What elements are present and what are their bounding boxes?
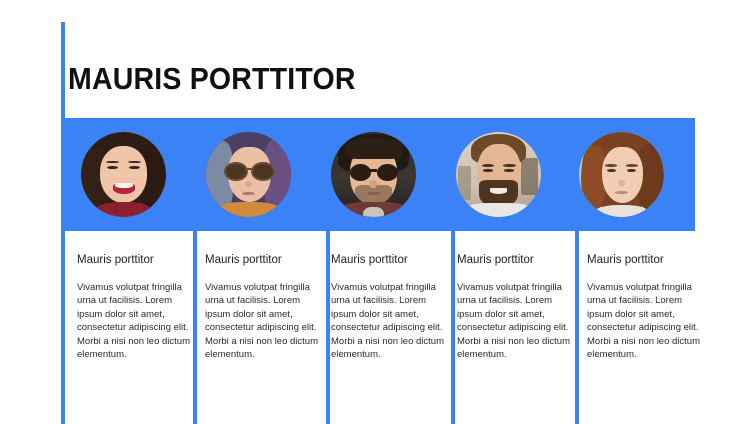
- column-divider-4: [451, 231, 455, 424]
- avatar-1[interactable]: [81, 132, 166, 217]
- avatar-4-image: [456, 132, 541, 217]
- column-2: Mauris porttitor Vivamus volutpat fringi…: [205, 252, 325, 361]
- avatar-4[interactable]: [456, 132, 541, 217]
- column-1-body: Vivamus volutpat fringilla urna ut facil…: [77, 281, 197, 361]
- avatar-band: [61, 118, 695, 231]
- column-2-heading: Mauris porttitor: [205, 252, 325, 268]
- column-5-heading: Mauris porttitor: [587, 252, 707, 268]
- avatar-2[interactable]: [206, 132, 291, 217]
- column-4-heading: Mauris porttitor: [457, 252, 577, 268]
- column-4: Mauris porttitor Vivamus volutpat fringi…: [457, 252, 577, 361]
- avatar-5-image: [579, 132, 664, 217]
- column-3: Mauris porttitor Vivamus volutpat fringi…: [331, 252, 451, 361]
- avatar-3-image: [331, 132, 416, 217]
- column-5-body: Vivamus volutpat fringilla urna ut facil…: [587, 281, 707, 361]
- column-divider-3: [326, 231, 330, 424]
- page-title: MAURIS PORTTITOR: [68, 60, 356, 98]
- column-3-heading: Mauris porttitor: [331, 252, 451, 268]
- column-4-body: Vivamus volutpat fringilla urna ut facil…: [457, 281, 577, 361]
- column-1-heading: Mauris porttitor: [77, 252, 197, 268]
- column-1: Mauris porttitor Vivamus volutpat fringi…: [77, 252, 197, 361]
- column-divider-1: [61, 231, 65, 424]
- avatar-2-image: [206, 132, 291, 217]
- avatar-5[interactable]: [579, 132, 664, 217]
- avatar-1-image: [81, 132, 166, 217]
- avatar-3[interactable]: [331, 132, 416, 217]
- column-2-body: Vivamus volutpat fringilla urna ut facil…: [205, 281, 325, 361]
- column-3-body: Vivamus volutpat fringilla urna ut facil…: [331, 281, 451, 361]
- column-5: Mauris porttitor Vivamus volutpat fringi…: [587, 252, 707, 361]
- slide-canvas: MAURIS PORTTITOR: [0, 0, 753, 424]
